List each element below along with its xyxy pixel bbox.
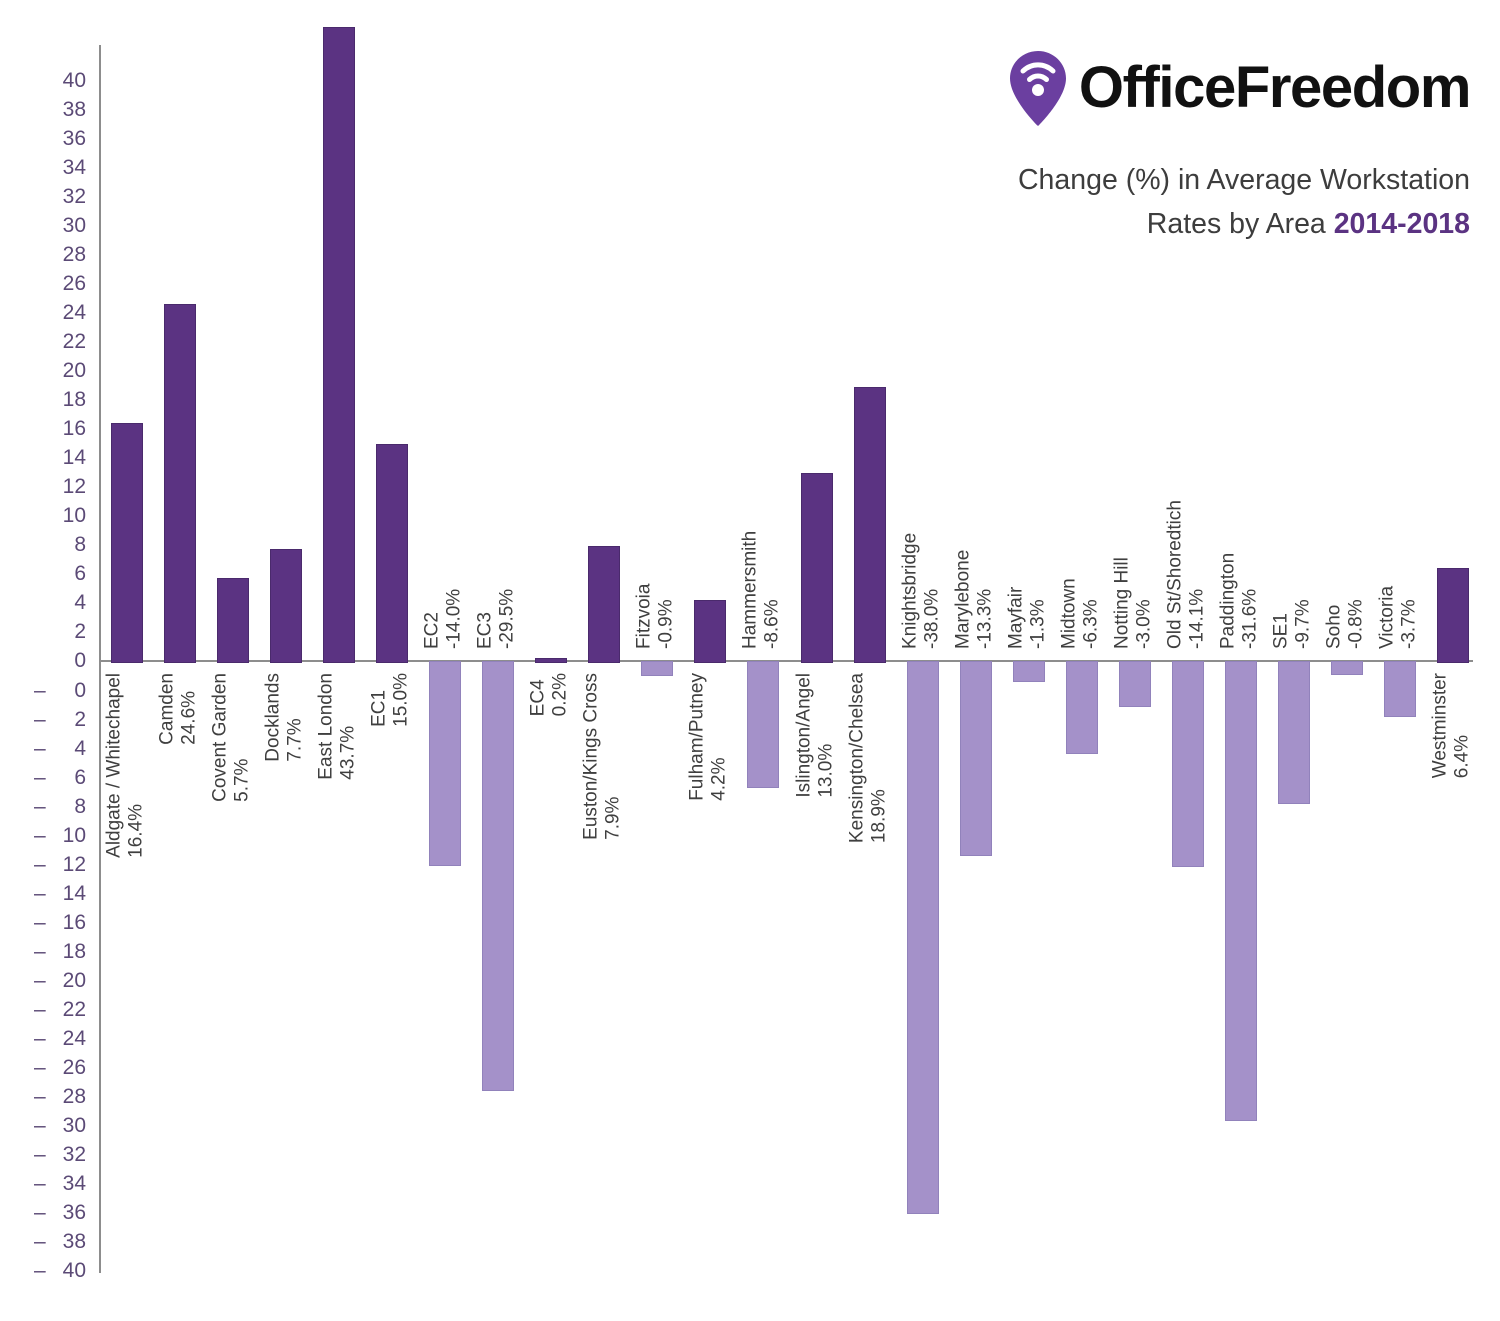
bar-label-category: Kensington/Chelsea (846, 673, 868, 843)
bar-group: Docklands7.7% (270, 0, 300, 1321)
bar-label-category: Covent Garden (209, 673, 231, 802)
y-tick-label: 20 (0, 360, 86, 381)
bar-label: Old St/Shoredtich-14.1% (1165, 500, 1210, 649)
bar-group: Mayfair-1.3% (1013, 0, 1043, 1321)
bar-negative[interactable] (1172, 661, 1204, 867)
bar-negative[interactable] (482, 661, 514, 1091)
bar-label: Soho-0.8% (1324, 599, 1369, 649)
y-tick-label-negative: –32 (0, 1144, 86, 1165)
y-tick-label: 34 (0, 157, 86, 178)
bar-group: EC2-14.0% (429, 0, 459, 1321)
bar-group: Westminster6.4% (1437, 0, 1467, 1321)
y-tick-label-negative: –10 (0, 825, 86, 846)
bar-label: Covent Garden5.7% (209, 673, 254, 802)
bar-label-value: 4.2% (709, 673, 731, 801)
bar-group: EC3-29.5% (482, 0, 512, 1321)
bar-group: East London43.7% (323, 0, 353, 1321)
bar-label-value: 18.9% (869, 673, 891, 843)
bar-label: EC115.0% (369, 673, 414, 727)
bar-label-value: -9.7% (1293, 599, 1315, 649)
y-tick-label-negative: –14 (0, 883, 86, 904)
bar-label-value: -6.3% (1081, 578, 1103, 649)
y-tick-label: 26 (0, 273, 86, 294)
y-tick-label-negative: –24 (0, 1028, 86, 1049)
bar-label-value: -31.6% (1240, 553, 1262, 649)
bar-label-category: Hammersmith (740, 531, 762, 649)
bar-group: Islington/Angel13.0% (801, 0, 831, 1321)
bar-label-value: -13.3% (975, 550, 997, 649)
bar-positive[interactable] (1437, 568, 1469, 663)
bar-label-category: Notting Hill (1112, 557, 1134, 649)
bar-label-value: 16.4% (126, 673, 148, 858)
y-tick-label: 40 (0, 70, 86, 91)
bar-label: Aldgate / Whitechapel16.4% (103, 673, 148, 858)
bar-label: EC3-29.5% (475, 589, 520, 649)
bar-label-category: Old St/Shoredtich (1165, 500, 1187, 649)
bar-label-category: Docklands (262, 673, 284, 762)
y-tick-label-negative: –22 (0, 999, 86, 1020)
bar-label-category: SE1 (1271, 599, 1293, 649)
bar-group: Fulham/Putney4.2% (694, 0, 724, 1321)
bar-group: Paddington-31.6% (1225, 0, 1255, 1321)
bar-label-category: EC2 (422, 589, 444, 649)
bar-label-value: 13.0% (816, 673, 838, 798)
bar-group: Marylebone-13.3% (960, 0, 990, 1321)
bar-negative[interactable] (1066, 661, 1098, 754)
y-tick-label: 14 (0, 447, 86, 468)
bar-label-value: 24.6% (179, 673, 201, 745)
bar-label-category: Victoria (1377, 586, 1399, 649)
bars-area: Aldgate / Whitechapel16.4%Camden24.6%Cov… (99, 0, 1479, 1321)
bar-label: Fulham/Putney4.2% (687, 673, 732, 801)
bar-group: Midtown-6.3% (1066, 0, 1096, 1321)
bar-label-category: EC3 (475, 589, 497, 649)
bar-label: SE1-9.7% (1271, 599, 1316, 649)
y-tick-label: 2 (0, 621, 86, 642)
bar-group: Notting Hill-3.0% (1119, 0, 1149, 1321)
y-tick-label: 12 (0, 476, 86, 497)
bar-label-value: -14.0% (444, 589, 466, 649)
bar-label: Camden24.6% (156, 673, 201, 745)
bar-positive[interactable] (535, 658, 567, 663)
y-tick-label-negative: –4 (0, 738, 86, 759)
bar-group: Victoria-3.7% (1384, 0, 1414, 1321)
bar-label: Victoria-3.7% (1377, 586, 1422, 649)
bar-label: Kensington/Chelsea18.9% (846, 673, 891, 843)
bar-positive[interactable] (694, 600, 726, 663)
bar-label-value: 15.0% (391, 673, 413, 727)
bar-label: Hammersmith-8.6% (740, 531, 785, 649)
y-tick-label-negative: –36 (0, 1202, 86, 1223)
bar-label-category: Fulham/Putney (687, 673, 709, 801)
y-tick-label: 18 (0, 389, 86, 410)
bar-negative[interactable] (429, 661, 461, 866)
y-tick-label: 30 (0, 215, 86, 236)
y-tick-label: 4 (0, 592, 86, 613)
bar-label: Paddington-31.6% (1218, 553, 1263, 649)
bar-label-category: Midtown (1059, 578, 1081, 649)
bar-negative[interactable] (907, 661, 939, 1214)
bar-label-value: -0.9% (656, 584, 678, 649)
y-tick-label: 6 (0, 563, 86, 584)
bar-label: Docklands7.7% (262, 673, 307, 762)
bar-label-category: Islington/Angel (793, 673, 815, 798)
y-tick-label: 16 (0, 418, 86, 439)
bar-group: Kensington/Chelsea18.9% (854, 0, 884, 1321)
bar-label: East London43.7% (315, 673, 360, 780)
y-tick-label-negative: –20 (0, 970, 86, 991)
y-tick-label-negative: –2 (0, 709, 86, 730)
bar-negative[interactable] (641, 661, 673, 676)
bar-negative[interactable] (1119, 661, 1151, 707)
y-tick-label: 32 (0, 186, 86, 207)
bar-label-category: Knightsbridge (899, 533, 921, 649)
bar-positive[interactable] (588, 546, 620, 663)
bar-label: Mayfair-1.3% (1005, 587, 1050, 649)
bar-label-value: -14.1% (1187, 500, 1209, 649)
y-tick-label: 36 (0, 128, 86, 149)
bar-positive[interactable] (111, 423, 143, 663)
bar-negative[interactable] (1013, 661, 1045, 682)
bar-group: Soho-0.8% (1331, 0, 1361, 1321)
y-tick-label-negative: –18 (0, 941, 86, 962)
y-tick-label-negative: –34 (0, 1173, 86, 1194)
bar-label: Fitzvoia-0.9% (634, 584, 679, 649)
bar-positive[interactable] (323, 27, 355, 663)
bar-label-category: Fitzvoia (634, 584, 656, 649)
bar-group: Covent Garden5.7% (217, 0, 247, 1321)
bar-group: Hammersmith-8.6% (747, 0, 777, 1321)
bar-group: EC40.2% (535, 0, 565, 1321)
bar-positive[interactable] (217, 578, 249, 663)
bar-label-value: -0.8% (1346, 599, 1368, 649)
bar-group: Old St/Shoredtich-14.1% (1172, 0, 1202, 1321)
y-tick-label-negative: –6 (0, 767, 86, 788)
bar-label-category: Euston/Kings Cross (581, 673, 603, 840)
bar-positive[interactable] (801, 473, 833, 664)
bar-label-value: -29.5% (497, 589, 519, 649)
bar-negative[interactable] (1384, 661, 1416, 717)
bar-label-value: -38.0% (922, 533, 944, 649)
chart-canvas: OfficeFreedom Change (%) in Average Work… (0, 0, 1500, 1321)
bar-group: SE1-9.7% (1278, 0, 1308, 1321)
bar-label: Euston/Kings Cross7.9% (581, 673, 626, 840)
bar-positive[interactable] (270, 549, 302, 663)
bar-group: Knightsbridge-38.0% (907, 0, 937, 1321)
bar-label-value: 7.9% (603, 673, 625, 840)
bar-negative[interactable] (747, 661, 779, 788)
bar-label: Marylebone-13.3% (952, 550, 997, 649)
y-tick-label-negative: –16 (0, 912, 86, 933)
y-tick-label-negative: –0 (0, 680, 86, 701)
bar-group: Aldgate / Whitechapel16.4% (111, 0, 141, 1321)
bar-negative[interactable] (1278, 661, 1310, 804)
bar-group: Euston/Kings Cross7.9% (588, 0, 618, 1321)
bar-label-value: -3.0% (1134, 557, 1156, 649)
y-tick-label: 8 (0, 534, 86, 555)
bar-label-category: Westminster (1430, 673, 1452, 778)
y-tick-label-negative: –38 (0, 1231, 86, 1252)
bar-label-value: -3.7% (1399, 586, 1421, 649)
y-tick-label-negative: –28 (0, 1086, 86, 1107)
bar-negative[interactable] (960, 661, 992, 856)
bar-label: Westminster6.4% (1430, 673, 1475, 778)
bar-label: Midtown-6.3% (1059, 578, 1104, 649)
bar-label-value: -1.3% (1028, 587, 1050, 649)
bar-label-value: 7.7% (285, 673, 307, 762)
bar-label-category: Paddington (1218, 553, 1240, 649)
bar-label-value: 0.2% (550, 673, 572, 716)
bar-positive[interactable] (376, 444, 408, 664)
bar-group: EC115.0% (376, 0, 406, 1321)
bar-label: EC40.2% (528, 673, 573, 716)
y-tick-label: 0 (0, 650, 86, 671)
bar-label-category: East London (315, 673, 337, 780)
y-tick-label: 24 (0, 302, 86, 323)
y-tick-label-negative: –8 (0, 796, 86, 817)
bar-label-value: 5.7% (232, 673, 254, 802)
bar-group: Fitzvoia-0.9% (641, 0, 671, 1321)
bar-label-category: Soho (1324, 599, 1346, 649)
bar-positive[interactable] (854, 387, 886, 663)
bar-label: Islington/Angel13.0% (793, 673, 838, 798)
bar-negative[interactable] (1225, 661, 1257, 1121)
y-tick-label: 10 (0, 505, 86, 526)
y-tick-label-negative: –12 (0, 854, 86, 875)
bar-label-category: Aldgate / Whitechapel (103, 673, 125, 858)
y-tick-label-negative: –30 (0, 1115, 86, 1136)
y-tick-label-negative: –26 (0, 1057, 86, 1078)
bar-label: EC2-14.0% (422, 589, 467, 649)
bar-label-value: 6.4% (1452, 673, 1474, 778)
bar-label: Knightsbridge-38.0% (899, 533, 944, 649)
bar-label-category: Camden (156, 673, 178, 745)
y-tick-label: 38 (0, 99, 86, 120)
y-tick-label-negative: –40 (0, 1260, 86, 1281)
bar-label-category: Marylebone (952, 550, 974, 649)
y-tick-label: 28 (0, 244, 86, 265)
bar-label-category: EC1 (369, 673, 391, 727)
bar-negative[interactable] (1331, 661, 1363, 675)
y-tick-label: 22 (0, 331, 86, 352)
bar-positive[interactable] (164, 304, 196, 663)
bar-label-category: Mayfair (1005, 587, 1027, 649)
bar-label-value: 43.7% (338, 673, 360, 780)
bar-label-value: -8.6% (762, 531, 784, 649)
bar-label: Notting Hill-3.0% (1112, 557, 1157, 649)
bar-label-category: EC4 (528, 673, 550, 716)
bar-group: Camden24.6% (164, 0, 194, 1321)
